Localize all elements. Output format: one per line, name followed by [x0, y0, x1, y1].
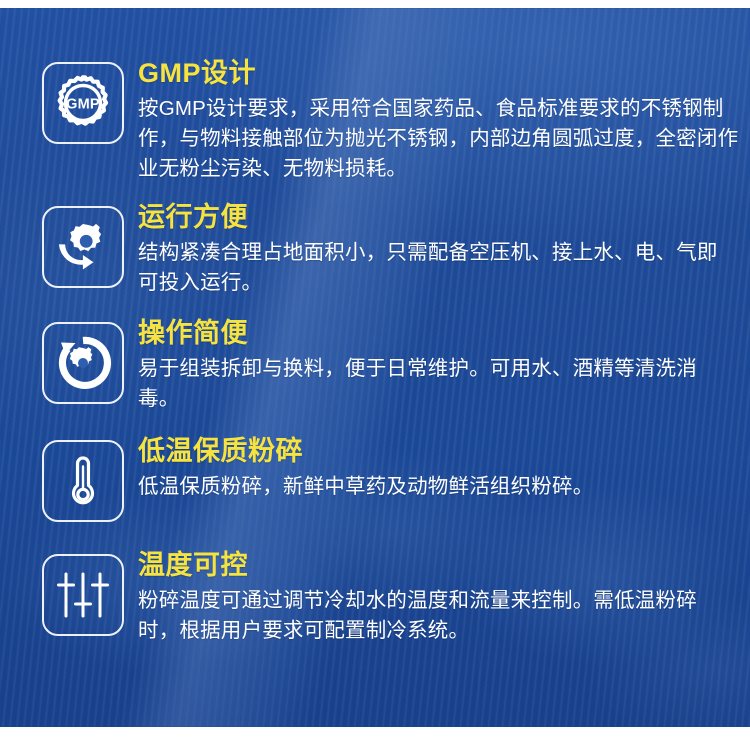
sliders-icon [42, 554, 124, 636]
gear-arrow-icon [42, 206, 124, 288]
feature-title: 运行方便 [138, 202, 738, 234]
feature-title: GMP设计 [138, 58, 743, 90]
features-list: GMP GMP设计 按GMP设计要求，采用符合国家药品、食品标准要求的不锈钢制作… [0, 0, 750, 647]
feature-item: 温度可控 粉碎温度可通过调节冷却水的温度和流量来控制。需低温粉碎时，根据用户要求… [0, 548, 750, 646]
feature-title: 温度可控 [138, 550, 738, 582]
feature-text: 运行方便 结构紧凑合理占地面积小，只需配备空压机、接上水、电、气即可投入运行。 [138, 200, 738, 298]
feature-desc: 粉碎温度可通过调节冷却水的温度和流量来控制。需低温粉碎时，根据用户要求可配置制冷… [138, 586, 738, 646]
feature-text: 低温保质粉碎 低温保质粉碎，新鲜中草药及动物鲜活组织粉碎。 [138, 434, 738, 502]
feature-title: 操作简便 [138, 318, 738, 350]
feature-text: GMP设计 按GMP设计要求，采用符合国家药品、食品标准要求的不锈钢制作，与物料… [138, 56, 743, 184]
feature-desc: 结构紧凑合理占地面积小，只需配备空压机、接上水、电、气即可投入运行。 [138, 238, 738, 298]
feature-list-page: GMP GMP设计 按GMP设计要求，采用符合国家药品、食品标准要求的不锈钢制作… [0, 0, 750, 751]
feature-desc: 按GMP设计要求，采用符合国家药品、食品标准要求的不锈钢制作，与物料接触部位为抛… [138, 94, 743, 184]
thermometer-icon [42, 440, 124, 522]
feature-title: 低温保质粉碎 [138, 436, 738, 468]
feature-text: 操作简便 易于组装拆卸与换料，便于日常维护。可用水、酒精等清洗消毒。 [138, 316, 738, 414]
svg-text:GMP: GMP [66, 97, 100, 113]
feature-item: 操作简便 易于组装拆卸与换料，便于日常维护。可用水、酒精等清洗消毒。 [0, 316, 750, 414]
feature-item: 运行方便 结构紧凑合理占地面积小，只需配备空压机、接上水、电、气即可投入运行。 [0, 200, 750, 298]
feature-item: GMP GMP设计 按GMP设计要求，采用符合国家药品、食品标准要求的不锈钢制作… [0, 56, 750, 184]
feature-desc: 易于组装拆卸与换料，便于日常维护。可用水、酒精等清洗消毒。 [138, 354, 738, 414]
gear-refresh-icon [42, 322, 124, 404]
gmp-gear-icon: GMP [42, 62, 124, 144]
feature-item: 低温保质粉碎 低温保质粉碎，新鲜中草药及动物鲜活组织粉碎。 [0, 434, 750, 522]
feature-text: 温度可控 粉碎温度可通过调节冷却水的温度和流量来控制。需低温粉碎时，根据用户要求… [138, 548, 738, 646]
feature-desc: 低温保质粉碎，新鲜中草药及动物鲜活组织粉碎。 [138, 472, 738, 502]
